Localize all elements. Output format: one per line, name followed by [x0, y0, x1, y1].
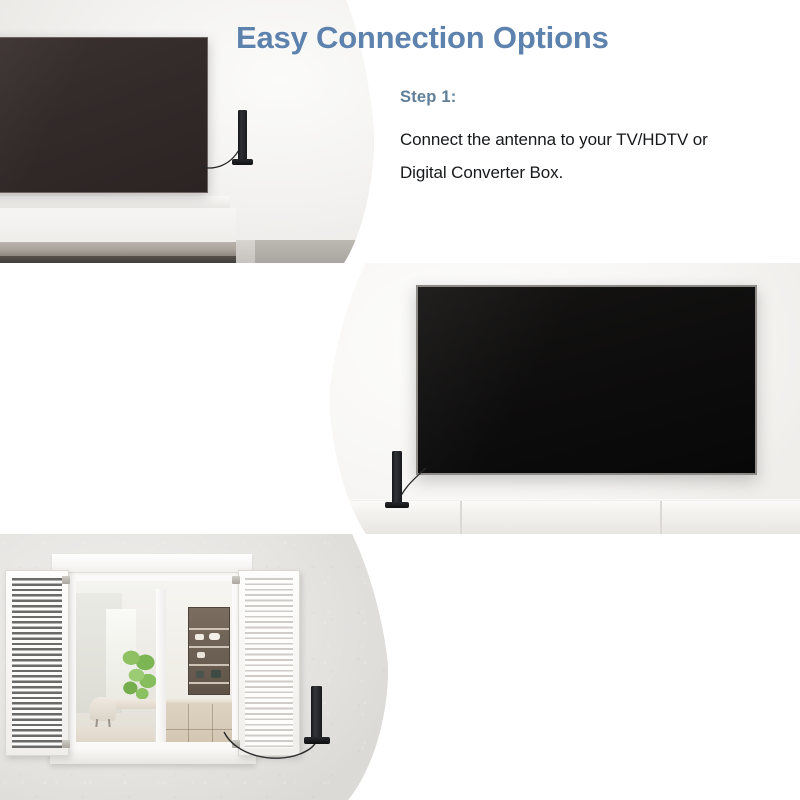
interior-stool	[90, 697, 116, 721]
tv-ledge	[0, 196, 230, 208]
shelf-dish	[196, 671, 204, 678]
console-seam-2	[660, 501, 662, 534]
step-2-row: Step 2: Position the antenna on the tabl…	[0, 263, 800, 534]
shutter-louvers	[12, 578, 62, 748]
shelf-board	[189, 682, 229, 684]
shutter-hinge	[232, 576, 240, 584]
shutter-hinge	[62, 740, 70, 748]
interior-floor	[76, 727, 154, 742]
shelf-dish	[209, 633, 220, 640]
step-1-label: Step 1:	[400, 88, 708, 107]
page-title: Easy Connection Options	[236, 20, 609, 56]
antenna-base	[232, 159, 253, 165]
shelf-dish	[195, 634, 204, 640]
step-1-text-block: Step 1: Connect the antenna to your TV/H…	[400, 88, 708, 190]
tv-on-console-photo	[330, 263, 800, 534]
step-1-line-1: Connect the antenna to your TV/HDTV or	[400, 124, 708, 157]
shelf-board	[189, 646, 229, 648]
window-mullion	[156, 589, 166, 742]
shelf-dish	[211, 670, 221, 678]
shutter-left	[5, 570, 69, 756]
antenna-cable	[222, 730, 322, 762]
screen-glare	[418, 287, 755, 473]
shutter-right	[238, 570, 300, 756]
infographic-page: Step 1: Connect the antenna to your TV/H…	[0, 0, 800, 800]
shelf-board	[189, 628, 229, 630]
console-shelf	[0, 242, 236, 256]
shelf-dish	[197, 652, 205, 658]
concrete-block	[255, 240, 365, 263]
window-lintel	[52, 554, 252, 573]
tv-screen	[0, 37, 208, 193]
step-1-line-2: Digital Converter Box.	[400, 157, 708, 190]
antenna-base	[385, 502, 409, 508]
screen-glare	[0, 38, 207, 192]
antenna-base	[304, 737, 330, 744]
tv-screen	[416, 285, 757, 475]
antenna-device	[392, 451, 402, 505]
cabinet-seam	[188, 704, 189, 742]
interior-shelving-unit	[188, 607, 230, 695]
antenna-device	[311, 686, 322, 740]
shutter-hinge	[62, 576, 70, 584]
window-with-shutters-photo	[0, 534, 392, 800]
step-3-row: Step 3: Scan for the channel and enjoy y…	[0, 534, 800, 800]
cabinet-seam	[212, 704, 213, 742]
window-frame	[67, 572, 241, 751]
window-glass	[76, 581, 232, 742]
antenna-device	[238, 110, 247, 161]
shutter-louvers	[245, 578, 293, 748]
console-shadow	[0, 256, 236, 263]
shelf-board	[189, 664, 229, 666]
wall-lower-panel	[0, 208, 236, 244]
